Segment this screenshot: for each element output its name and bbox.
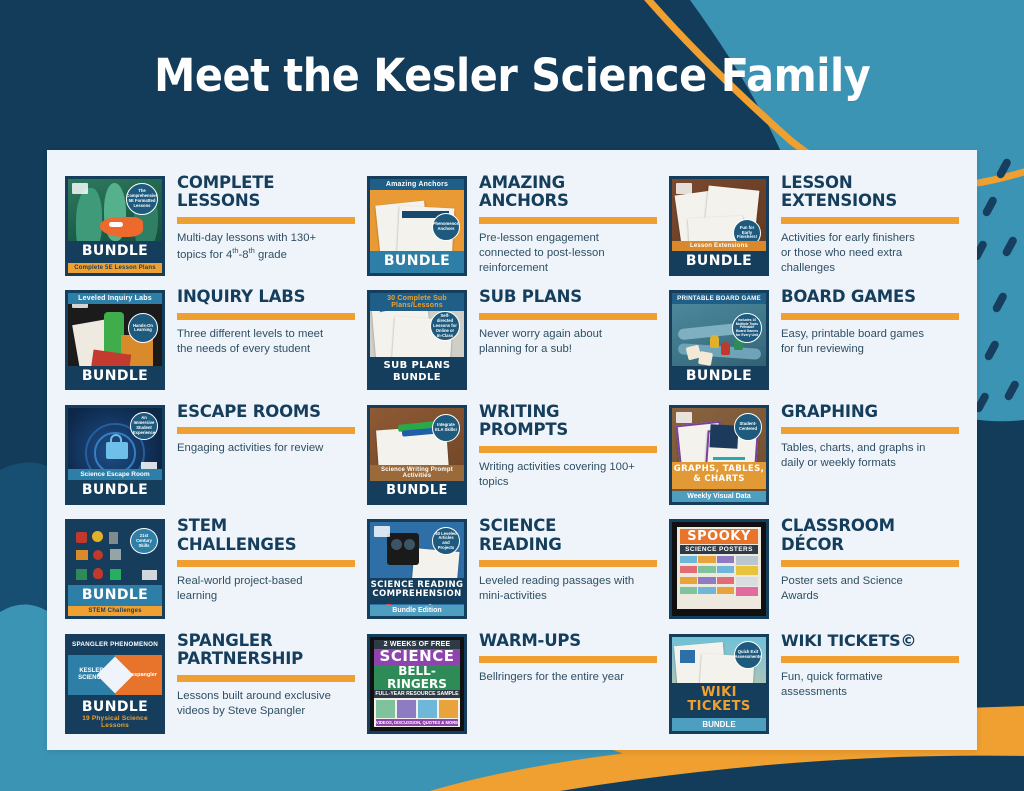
product-title: STEM CHALLENGES [177,517,355,554]
thumbnail-spangler-partnership: KESLER SCIENCE stevespangler SPANGLER PH… [65,634,165,734]
product-title: CLASSROOM DÉCOR [781,517,959,554]
orange-divider [177,560,355,567]
orange-divider [781,656,959,663]
orange-divider [781,427,959,434]
thumb-toplabel: Science Writing Prompt Activities [370,465,464,481]
thumb-badge: Self-directed Lessons for Online or In-C… [430,311,460,341]
thumb-toplabel: SPANGLER PHENOMENON [68,637,162,652]
thumbnail-inquiry-labs: Leveled Inquiry Labs Hands-On Learning B… [65,290,165,390]
thumb-label: BUNDLE [68,585,162,607]
thumb-badge: The Comprehensive 5E Formatted Lessons [126,183,158,215]
thumbnail-escape-rooms: An Immersive Student Experience BUNDLE S… [65,405,165,505]
products-card: The Comprehensive 5E Formatted Lessons B… [47,150,977,750]
thumb-badge: 21st Century Skills [130,528,158,554]
product-item-writing-prompts[interactable]: Integrate ELA Skills! MEGA BUNDLE Scienc… [363,397,661,511]
product-text: GRAPHING Tables, charts, and graphs in d… [769,399,959,472]
product-title: INQUIRY LABS [177,288,355,306]
product-text: WARM-UPS Bellringers for the entire year [467,628,657,685]
product-description: Lessons built around exclusive videos by… [177,689,355,719]
thumbnail-stem-challenges: 21st Century Skills BUNDLE STEM Challeng… [65,519,165,619]
product-title: WIKI TICKETS© [781,632,959,650]
product-title: SUB PLANS [479,288,657,306]
thumbnail-warm-ups: 2 WEEKS OF FREE SCIENCE BELL-RINGERS FUL… [367,634,467,734]
thumb-toplabel: 30 Complete Sub Plans/Lessons [370,293,464,311]
product-description: Activities for early finishers or those … [781,231,959,276]
product-description: Never worry again about planning for a s… [479,327,657,357]
product-text: STEM CHALLENGES Real-world project-based… [165,513,355,604]
orange-divider [781,313,959,320]
product-item-lesson-extensions[interactable]: Fun for Early Finishers! BUNDLE Lesson E… [665,168,963,282]
thumbnail-sub-plans: 30 Complete Sub Plans/Lessons Self-direc… [367,290,467,390]
thumbnail-lesson-extensions: Fun for Early Finishers! BUNDLE Lesson E… [669,176,769,276]
thumbnail-graphing: Student-Centered GRAPHS, TABLES, & CHART… [669,405,769,505]
thumb-toplabel: Amazing Anchors [370,179,464,190]
orange-divider [781,217,959,224]
product-item-sub-plans[interactable]: 30 Complete Sub Plans/Lessons Self-direc… [363,282,661,396]
product-item-spangler-partnership[interactable]: KESLER SCIENCE stevespangler SPANGLER PH… [61,626,359,740]
product-text: WIKI TICKETS© Fun, quick formative asses… [769,628,959,700]
thumb-word-science: SCIENCE [374,649,461,665]
thumb-art: 2 WEEKS OF FREE SCIENCE BELL-RINGERS FUL… [370,637,464,731]
product-title: SCIENCE READING [479,517,657,554]
product-description: Leveled reading passages with mini-activ… [479,574,657,604]
product-title: GRAPHING [781,403,959,421]
thumbnail-classroom-decor: SPOOKY SCIENCE POSTERS [669,519,769,619]
product-text: WRITING PROMPTS Writing activities cover… [467,399,657,490]
brand-logo-icon [142,570,157,580]
product-description: Engaging activities for review [177,441,355,456]
orange-divider [479,313,657,320]
thumb-label: BUNDLE [672,251,766,273]
products-grid: The Comprehensive 5E Formatted Lessons B… [61,168,963,740]
product-text: INQUIRY LABS Three different levels to m… [165,284,355,357]
orange-divider [177,675,355,682]
product-item-inquiry-labs[interactable]: Leveled Inquiry Labs Hands-On Learning B… [61,282,359,396]
product-text: SUB PLANS Never worry again about planni… [467,284,657,357]
thumb-badge: Phenomenon Anchors [432,213,460,241]
thumb-toplabel: PRINTABLE BOARD GAME [672,293,766,304]
product-item-board-games[interactable]: PRINTABLE BOARD GAME Includes 10 Multipl… [665,282,963,396]
orange-divider [177,217,355,224]
thumb-sublabel: 19 Physical Science Lessons [68,713,162,731]
thumb-word-bellringers: BELL-RINGERS [374,665,461,690]
product-text: SPANGLER PARTNERSHIP Lessons built aroun… [165,628,355,719]
orange-divider [479,446,657,453]
product-description: Fun, quick formative assessments [781,670,959,700]
orange-divider [177,427,355,434]
orange-divider [479,560,657,567]
brand-logo-icon [374,526,390,537]
orange-divider [177,313,355,320]
thumb-sublabel: BUNDLE [672,718,766,731]
product-title: AMAZING ANCHORS [479,174,657,211]
thumbnail-complete-lessons: The Comprehensive 5E Formatted Lessons B… [65,176,165,276]
brand-logo-icon [676,412,692,423]
thumbnail-board-games: PRINTABLE BOARD GAME Includes 10 Multipl… [669,290,769,390]
thumb-sublabel: Bundle Edition [370,605,464,616]
thumb-badge: Quick Exit Assessments [734,641,762,669]
thumb-badge: An Immersive Student Experience [130,412,158,440]
product-title: ESCAPE ROOMS [177,403,355,421]
product-text: SCIENCE READING Leveled reading passages… [467,513,657,604]
product-description: Easy, printable board games for fun revi… [781,327,959,357]
brand-logo-icon [676,183,692,194]
product-description: Pre-lesson engagement connected to post-… [479,231,657,276]
orange-divider [781,560,959,567]
product-title: BOARD GAMES [781,288,959,306]
thumb-label: BUNDLE [68,366,162,388]
desc-part-3: grade [255,249,287,261]
thumb-label: WIKI TICKETS [672,683,766,717]
product-text: COMPLETE LESSONS Multi-day lessons with … [165,170,355,263]
thumbnail-science-reading: 40 Leveled Articles and Projects SCIENCE… [367,519,467,619]
thumb-art: SPOOKY SCIENCE POSTERS [672,522,766,616]
product-item-stem-challenges[interactable]: 21st Century Skills BUNDLE STEM Challeng… [61,511,359,625]
product-description: Bellringers for the entire year [479,670,657,685]
product-title: SPANGLER PARTNERSHIP [177,632,355,669]
thumb-badge: 40 Leveled Articles and Projects [432,527,460,555]
thumb-sublabel: VIDEOS, DISCUSSION, QUOTES & MORE [376,719,459,726]
product-text: BOARD GAMES Easy, printable board games … [769,284,959,357]
product-title: WARM-UPS [479,632,657,650]
product-description: Three different levels to meet the needs… [177,327,355,357]
thumb-label: GRAPHS, TABLES, & CHARTS [672,462,766,489]
product-item-warm-ups[interactable]: 2 WEEKS OF FREE SCIENCE BELL-RINGERS FUL… [363,626,661,740]
thumb-label: BUNDLE [68,241,162,263]
thumb-sublabel: STEM Challenges [68,606,162,616]
thumb-toplabel: SPOOKY [680,529,759,544]
thumb-toplabel: Leveled Inquiry Labs [68,293,162,304]
page-header: Meet the Kesler Science Family [0,0,1024,150]
product-item-escape-rooms[interactable]: An Immersive Student Experience BUNDLE S… [61,397,359,511]
thumb-poster-subtitle: SCIENCE POSTERS [680,545,759,554]
product-description: Tables, charts, and graphs in daily or w… [781,441,959,471]
orange-divider [479,656,657,663]
product-item-complete-lessons[interactable]: The Comprehensive 5E Formatted Lessons B… [61,168,359,282]
thumb-sublabel: Lesson Extensions [672,241,766,251]
product-text: LESSON EXTENSIONS Activities for early f… [769,170,959,276]
thumbnail-wiki-tickets: Quick Exit Assessments WIKI TICKETS BUND… [669,634,769,734]
product-description: Real-world project-based learning [177,574,355,604]
thumb-badge: Integrate ELA Skills! [432,414,460,442]
product-description: Poster sets and Science Awards [781,574,959,604]
thumb-sublabel: Complete 5E Lesson Plans [68,263,162,273]
product-item-graphing[interactable]: Student-Centered GRAPHS, TABLES, & CHART… [665,397,963,511]
product-item-science-reading[interactable]: 40 Leveled Articles and Projects SCIENCE… [363,511,661,625]
product-title: WRITING PROMPTS [479,403,657,440]
product-item-amazing-anchors[interactable]: Amazing Anchors Phenomenon Anchors BUNDL… [363,168,661,282]
product-item-wiki-tickets[interactable]: Quick Exit Assessments WIKI TICKETS BUND… [665,626,963,740]
page-title: Meet the Kesler Science Family [154,49,870,102]
product-text: CLASSROOM DÉCOR Poster sets and Science … [769,513,959,604]
thumb-badge: Student-Centered [734,413,762,441]
thumb-sublabel: Weekly Visual Data [672,491,766,502]
thumb-label: SUB PLANS BUNDLE [370,357,464,387]
thumb-label: BUNDLE [370,251,464,273]
thumb-toplabel: Science Escape Room [68,469,162,480]
thumbnail-writing-prompts: Integrate ELA Skills! MEGA BUNDLE Scienc… [367,405,467,505]
product-text: AMAZING ANCHORS Pre-lesson engagement co… [467,170,657,276]
orange-divider [479,217,657,224]
product-description: Multi-day lessons with 130+ topics for 4… [177,231,355,263]
product-item-classroom-decor[interactable]: SPOOKY SCIENCE POSTERS [665,511,963,625]
desc-part-2: -8 [239,249,249,261]
thumb-label: BUNDLE [672,366,766,388]
thumbnail-amazing-anchors: Amazing Anchors Phenomenon Anchors BUNDL… [367,176,467,276]
thumb-label: SCIENCE READING COMPREHENSION [370,578,464,605]
product-text: ESCAPE ROOMS Engaging activities for rev… [165,399,355,456]
product-title: LESSON EXTENSIONS [781,174,959,211]
brand-logo-icon [72,183,88,194]
thumb-label: BUNDLE [68,480,162,502]
thumb-word-fullyear: FULL-YEAR RESOURCE SAMPLE [374,690,461,698]
product-title: COMPLETE LESSONS [177,174,355,211]
product-description: Writing activities covering 100+ topics [479,460,657,490]
